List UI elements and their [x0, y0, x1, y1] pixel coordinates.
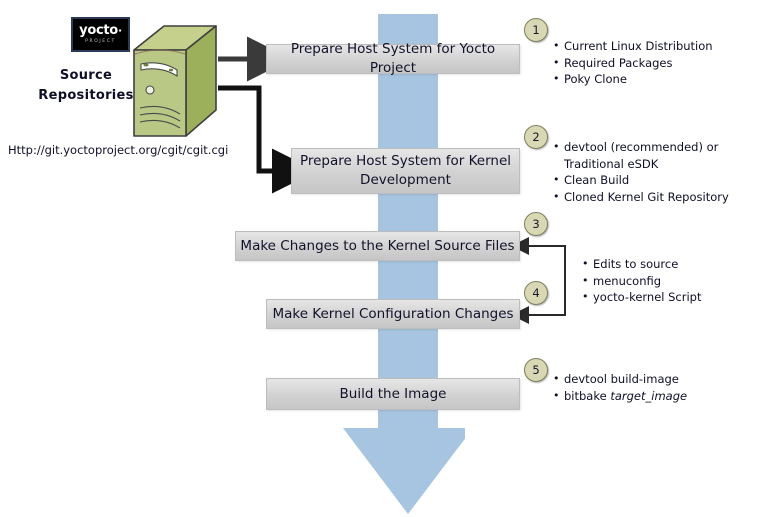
- list-item: Poky Clone: [553, 71, 763, 88]
- step-box-prepare-host-yocto[interactable]: Prepare Host System for Yocto Project: [266, 44, 520, 74]
- list-item: devtool build-image: [553, 371, 753, 388]
- step-box-prepare-host-kernel[interactable]: Prepare Host System for Kernel Developme…: [291, 148, 520, 194]
- step-box-make-kernel-config-changes[interactable]: Make Kernel Configuration Changes: [266, 299, 520, 329]
- list-item: bitbake target_image: [553, 388, 753, 405]
- step-box-make-kernel-source-changes[interactable]: Make Changes to the Kernel Source Files: [235, 231, 520, 261]
- source-label-line2: Repositories: [32, 86, 140, 106]
- step-box-build-the-image[interactable]: Build the Image: [266, 378, 520, 410]
- step5-bullet-list: devtool build-image bitbake target_image: [553, 371, 753, 404]
- yocto-logo-wordmark: yocto·: [79, 24, 122, 37]
- step-number-4: 4: [524, 281, 548, 305]
- main-flow-arrow: [335, 14, 465, 514]
- yocto-logo-subtext: PROJECT: [85, 38, 116, 45]
- list-item: Clean Build: [553, 172, 765, 189]
- connector-server-to-step2: [218, 88, 277, 171]
- step3-step4-shared-bullet-list: Edits to source menuconfig yocto-kernel …: [582, 256, 762, 306]
- list-item: Edits to source: [582, 256, 762, 273]
- server-icon: [132, 24, 218, 138]
- step-number-3: 3: [524, 212, 548, 236]
- step-number-1: 1: [524, 18, 548, 42]
- list-item: yocto-kernel Script: [582, 289, 762, 306]
- list-item: Cloned Kernel Git Repository: [553, 189, 765, 206]
- bitbake-command: bitbake: [564, 389, 610, 403]
- list-item: menuconfig: [582, 273, 762, 290]
- source-repositories-label: Source Repositories: [32, 66, 140, 106]
- source-label-line1: Source: [32, 66, 140, 86]
- step-number-5: 5: [524, 358, 548, 382]
- bitbake-target-argument: target_image: [610, 389, 687, 403]
- step-number-2: 2: [524, 125, 548, 149]
- list-item: Required Packages: [553, 55, 763, 72]
- step1-bullet-list: Current Linux Distribution Required Pack…: [553, 38, 763, 88]
- list-item: devtool (recommended) or Traditional eSD…: [553, 139, 765, 172]
- diagram-canvas: yocto· PROJECT Source Repositories Http:…: [0, 0, 769, 517]
- list-item: Current Linux Distribution: [553, 38, 763, 55]
- yocto-project-logo: yocto· PROJECT: [71, 17, 130, 52]
- step2-bullet-list: devtool (recommended) or Traditional eSD…: [553, 139, 765, 205]
- source-repository-url: Http://git.yoctoproject.org/cgit/cgit.cg…: [8, 143, 228, 157]
